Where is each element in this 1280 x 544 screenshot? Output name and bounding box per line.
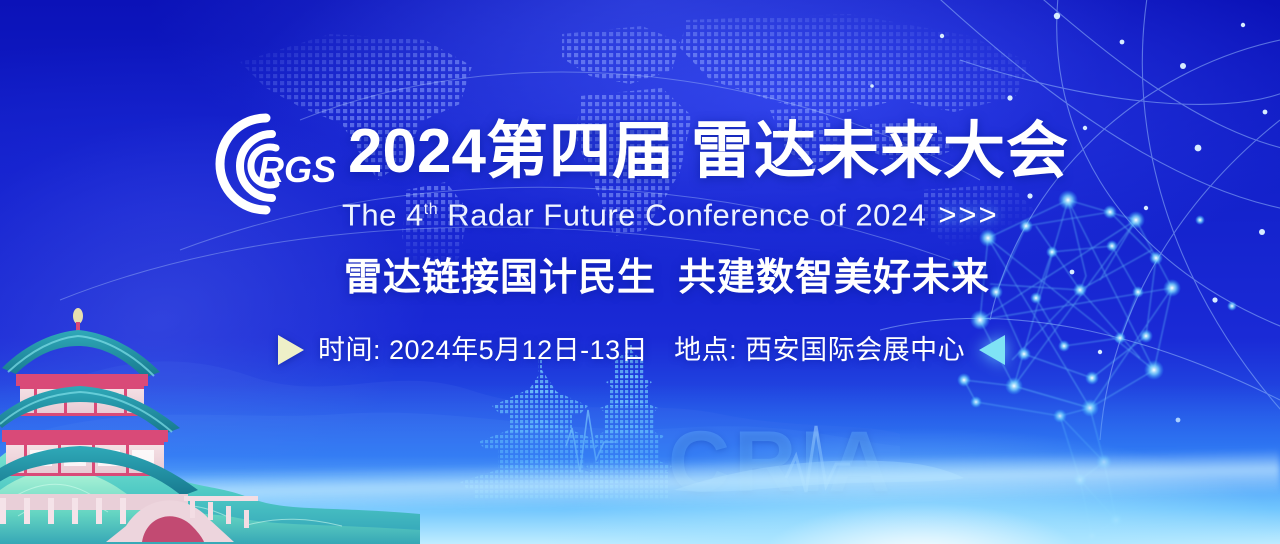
rgs-radar-logo-icon: RGS — [196, 112, 342, 216]
subtitle-rest: Radar Future Conference of 2024 — [447, 197, 926, 232]
chevrons-icon: >>> — [938, 197, 998, 232]
event-info-line: 时间: 2024年5月12日-13日 地点: 西安国际会展中心 — [278, 330, 1005, 370]
page-title: 2024第四届雷达未来大会 — [348, 116, 1069, 188]
title-year: 2024 — [348, 117, 486, 186]
conference-banner: CRIA — [0, 0, 1280, 544]
subtitle-prefix: The — [342, 197, 397, 232]
event-venue: 地点: 西安国际会展中心 — [674, 330, 965, 370]
subtitle-ordinal-suffix: th — [424, 201, 438, 218]
banner-content: RGS 2024第四届雷达未来大会 The 4th Radar Future C… — [0, 0, 1280, 544]
tagline-left: 雷达链接国计民生 — [344, 257, 656, 299]
event-date: 时间: 2024年5月12日-13日 — [318, 330, 648, 370]
title-edition: 第四届 — [486, 117, 675, 186]
subtitle-ordinal: 4 — [406, 197, 424, 232]
rgs-logo-text: RGS — [258, 149, 336, 190]
page-subtitle: The 4th Radar Future Conference of 2024>… — [342, 191, 999, 234]
title-name: 雷达未来大会 — [691, 117, 1069, 186]
play-triangle-right-icon — [278, 335, 304, 365]
play-triangle-left-icon — [979, 335, 1005, 365]
tagline: 雷达链接国计民生共建数智美好未来 — [344, 255, 990, 301]
tagline-right: 共建数智美好未来 — [678, 257, 990, 299]
